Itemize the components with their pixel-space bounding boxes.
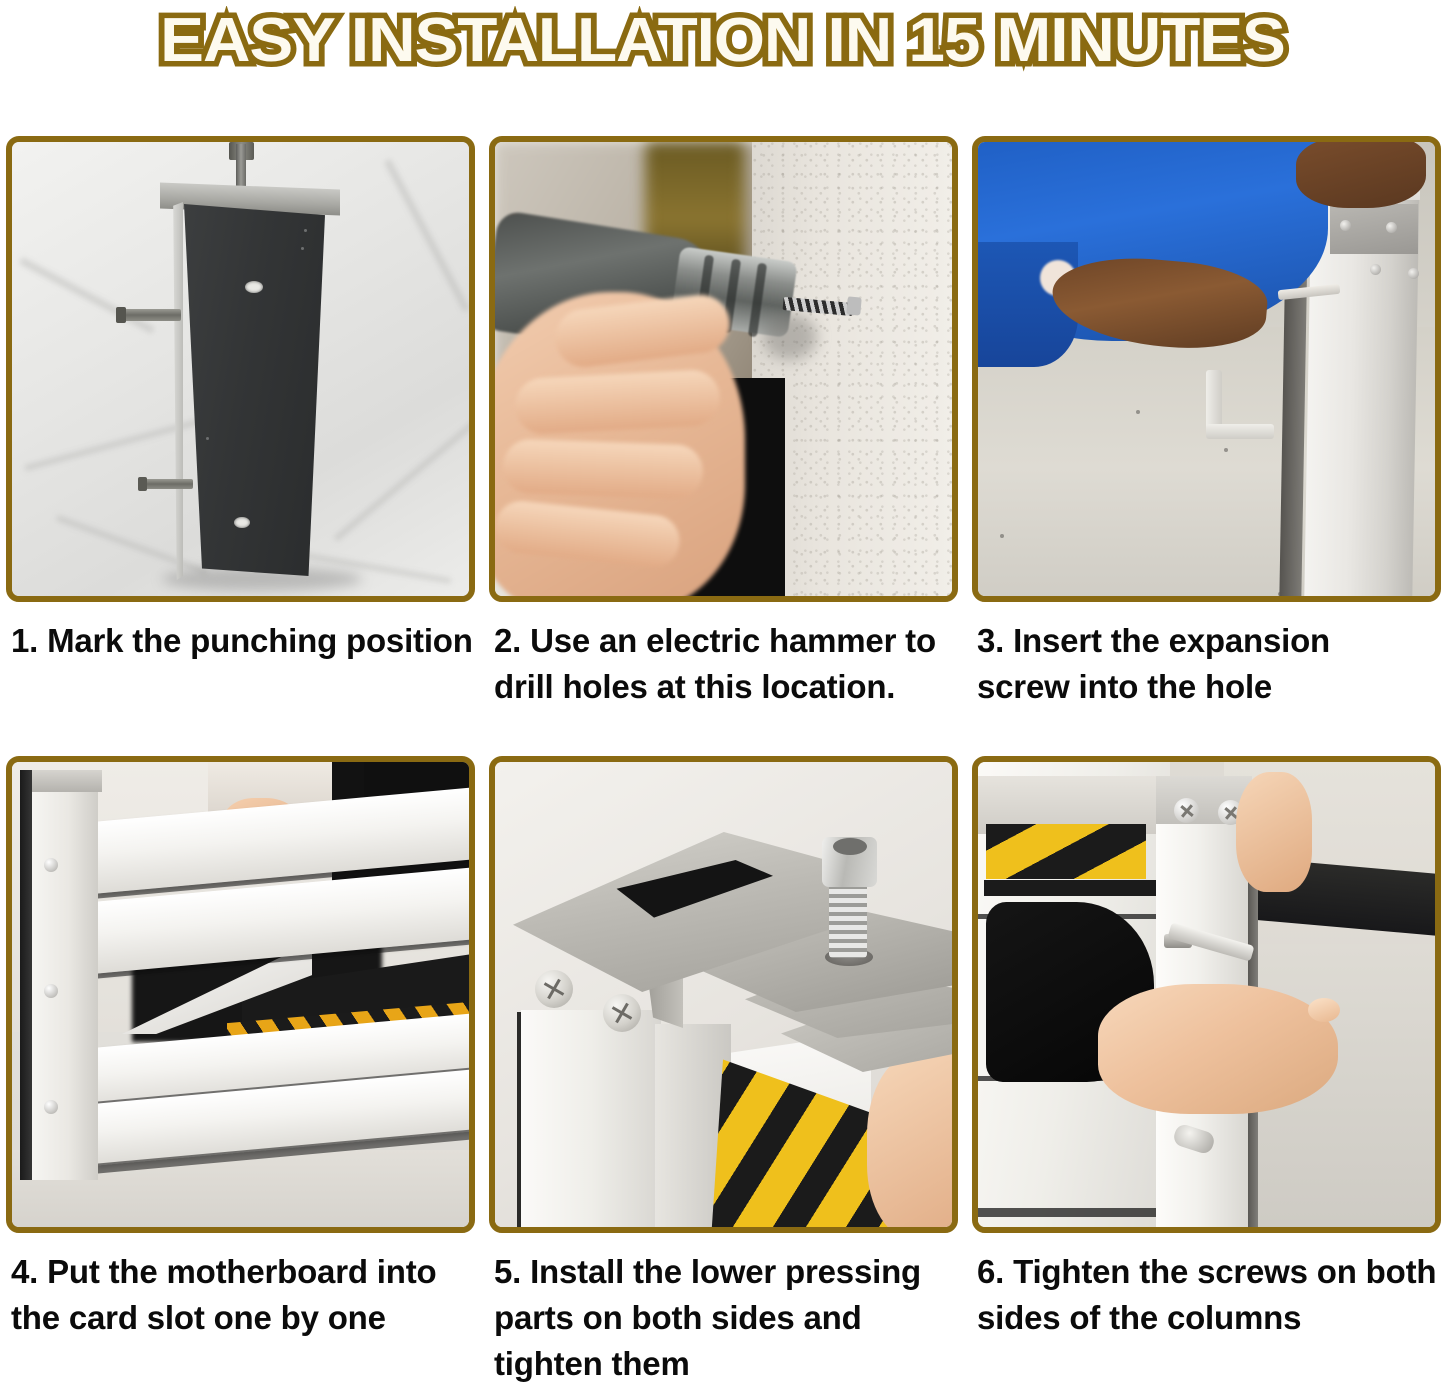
photo-drill-holes xyxy=(495,142,952,596)
step-cell-5: 5. Install the lower pressing parts on b… xyxy=(489,756,958,1387)
photo-lower-pressing-parts xyxy=(495,762,952,1227)
title-banner: EASY INSTALLATION IN 15 MINUTES xyxy=(0,0,1445,82)
bolt-icon xyxy=(829,880,867,958)
step-cell-4: 4. Put the motherboard into the card slo… xyxy=(6,756,475,1387)
step-photo-frame-5 xyxy=(489,756,958,1233)
page-title: EASY INSTALLATION IN 15 MINUTES xyxy=(160,7,1285,75)
hand xyxy=(867,1052,952,1227)
step-caption-6: 6. Tighten the screws on both sides of t… xyxy=(972,1233,1441,1341)
slot-column xyxy=(32,770,98,1180)
step-photo-frame-1 xyxy=(6,136,475,602)
step-photo-frame-4 xyxy=(6,756,475,1233)
photo-insert-motherboard xyxy=(12,762,469,1227)
post-hole-upper xyxy=(245,281,263,293)
step-photo-frame-3 xyxy=(972,136,1441,602)
steps-row-top: 1. Mark the punching position xyxy=(6,136,1439,736)
step-cell-1: 1. Mark the punching position xyxy=(6,136,475,736)
phillips-screw-icon xyxy=(1174,798,1199,823)
post-hole-lower xyxy=(234,517,250,528)
stud-bolt-upper xyxy=(119,309,181,321)
installation-guide-page: EASY INSTALLATION IN 15 MINUTES xyxy=(0,0,1445,1352)
step-caption-5: 5. Install the lower pressing parts on b… xyxy=(489,1233,958,1387)
photo-tighten-screws xyxy=(978,762,1435,1227)
step-photo-frame-6 xyxy=(972,756,1441,1233)
step-cell-3: 3. Insert the expansion screw into the h… xyxy=(972,136,1441,736)
stud-bolt-lower xyxy=(141,479,193,489)
step-caption-2: 2. Use an electric hammer to drill holes… xyxy=(489,602,958,736)
step-photo-frame-2 xyxy=(489,136,958,602)
step-caption-1: 1. Mark the punching position xyxy=(6,602,475,736)
photo-insert-expansion-screw xyxy=(978,142,1435,596)
top-bolt-icon xyxy=(236,144,246,188)
hazard-stripe xyxy=(986,824,1146,879)
step-cell-2: 2. Use an electric hammer to drill holes… xyxy=(489,136,958,736)
steps-row-bottom: 4. Put the motherboard into the card slo… xyxy=(6,756,1439,1387)
step-caption-3: 3. Insert the expansion screw into the h… xyxy=(972,602,1441,736)
phillips-screw-icon xyxy=(603,994,641,1032)
steps-grid: 1. Mark the punching position xyxy=(6,136,1439,1387)
photo-mark-punching-position xyxy=(12,142,469,596)
dark-post xyxy=(175,204,325,576)
hand xyxy=(1098,984,1338,1114)
step-cell-6: 6. Tighten the screws on both sides of t… xyxy=(972,756,1441,1387)
phillips-screw-icon xyxy=(535,970,573,1008)
step-caption-4: 4. Put the motherboard into the card slo… xyxy=(6,1233,475,1341)
